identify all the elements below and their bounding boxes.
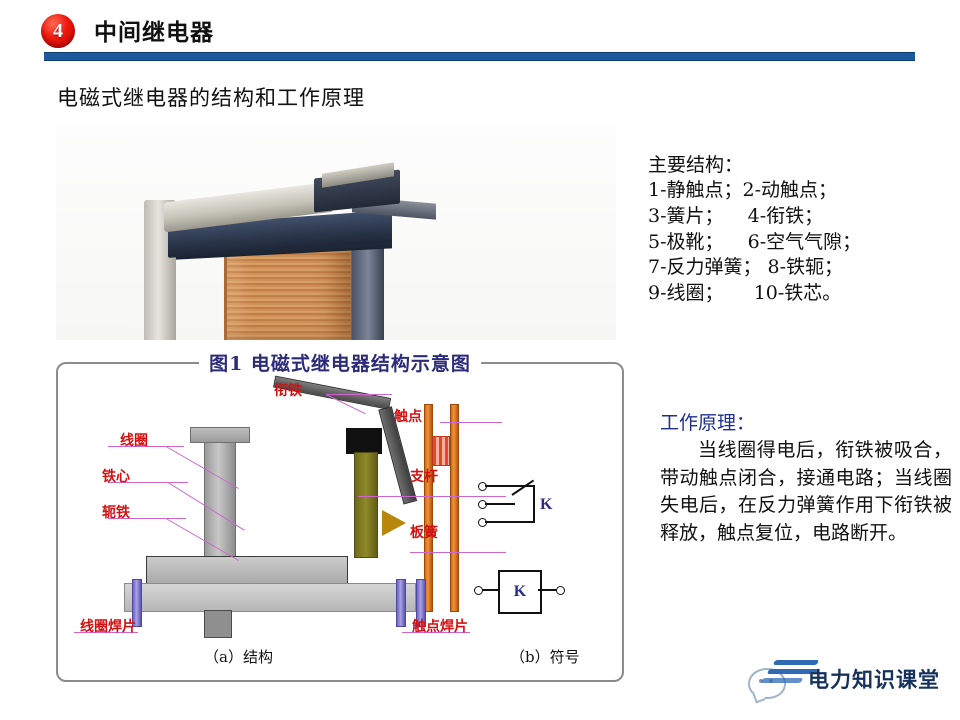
- symbol-coil-terminal-left: [474, 586, 483, 595]
- symbol-coil-label: K: [500, 572, 540, 612]
- diagram-core-cap: [190, 427, 250, 443]
- header-divider: [44, 52, 915, 61]
- diagram-core-foot: [146, 556, 348, 586]
- section-number-badge: 4: [41, 14, 75, 48]
- structure-line: 5-极靴； 6-空气气隙；: [648, 230, 948, 256]
- leader-armature: [326, 394, 392, 395]
- symbol-contact-line-mid: [485, 503, 515, 505]
- caption-symbol: （b）符号: [510, 646, 580, 667]
- symbol-contact-line-bot: [485, 521, 533, 523]
- symbol-coil-lead-right: [538, 589, 556, 591]
- label-coil-terminal: 线圈焊片: [80, 616, 136, 636]
- symbol-movable-blade: [511, 480, 534, 496]
- diagram-title: 图1 电磁式继电器结构示意图: [199, 349, 481, 376]
- label-contact-terminal: 触点焊片: [412, 616, 468, 636]
- label-coil: 线圈: [120, 430, 148, 450]
- structure-line: 3-簧片； 4-衔铁；: [648, 204, 948, 230]
- watermark: 电力知识课堂: [748, 656, 948, 702]
- structure-heading: 主要结构：: [648, 150, 948, 177]
- diagram-post-cap: [346, 428, 382, 454]
- structure-diagram-panel: 图1 电磁式继电器结构示意图 衔铁 线圈 铁心 轭铁 触点 支杆 板簧 线圈焊片…: [56, 362, 624, 682]
- structure-line: 1-静触点；2-动触点；: [648, 178, 948, 204]
- structure-line: 7-反力弹簧； 8-铁轭；: [648, 255, 948, 281]
- symbol-contact-bridge: [533, 485, 535, 523]
- diagram-iron-core: [204, 434, 236, 558]
- diagram-contact-element: [432, 436, 450, 466]
- page-title: 中间继电器: [94, 13, 214, 47]
- watermark-text: 电力知识课堂: [808, 664, 940, 694]
- label-yoke: 轭铁: [102, 502, 130, 522]
- page-header: 4 中间继电器: [0, 0, 960, 62]
- section-subtitle: 电磁式继电器的结构和工作原理: [57, 82, 365, 112]
- working-principle-body: 当线圈得电后，衔铁被吸合，带动触点闭合，接通电路；当线圈失电后，在反力弹簧作用下…: [660, 437, 952, 547]
- symbol-figure: K K: [478, 474, 598, 624]
- label-leaf-spring: 板簧: [410, 522, 438, 542]
- caption-structure: （a）结构: [204, 646, 273, 667]
- diagram-base-bar: [124, 583, 416, 612]
- diagram-olive-post: [354, 452, 378, 558]
- diagram-contact-terminal-1: [396, 579, 406, 627]
- diagram-core-stub: [204, 610, 232, 638]
- structure-line: 9-线圈； 10-铁芯。: [648, 281, 948, 307]
- label-contact: 触点: [394, 406, 422, 426]
- label-armature: 衔铁: [274, 380, 302, 400]
- diagram-wedge: [382, 510, 406, 536]
- relay-photo: [56, 126, 616, 340]
- symbol-coil-box: K: [498, 570, 542, 614]
- symbol-contact-label: K: [540, 496, 552, 514]
- structure-list-block: 主要结构： 1-静触点；2-动触点； 3-簧片； 4-衔铁； 5-极靴； 6-空…: [648, 150, 948, 307]
- watermark-streak-3: [761, 678, 804, 683]
- diagram-support-rod-2: [450, 404, 459, 612]
- label-support-rod: 支杆: [410, 466, 438, 486]
- leader-contact: [440, 422, 502, 423]
- working-principle-block: 工作原理： 当线圈得电后，衔铁被吸合，带动触点闭合，接通电路；当线圈失电后，在反…: [660, 408, 952, 547]
- label-iron-core: 铁心: [102, 466, 130, 486]
- working-principle-heading: 工作原理：: [660, 408, 952, 435]
- symbol-coil-terminal-right: [556, 586, 565, 595]
- section-number-label: 4: [41, 14, 75, 48]
